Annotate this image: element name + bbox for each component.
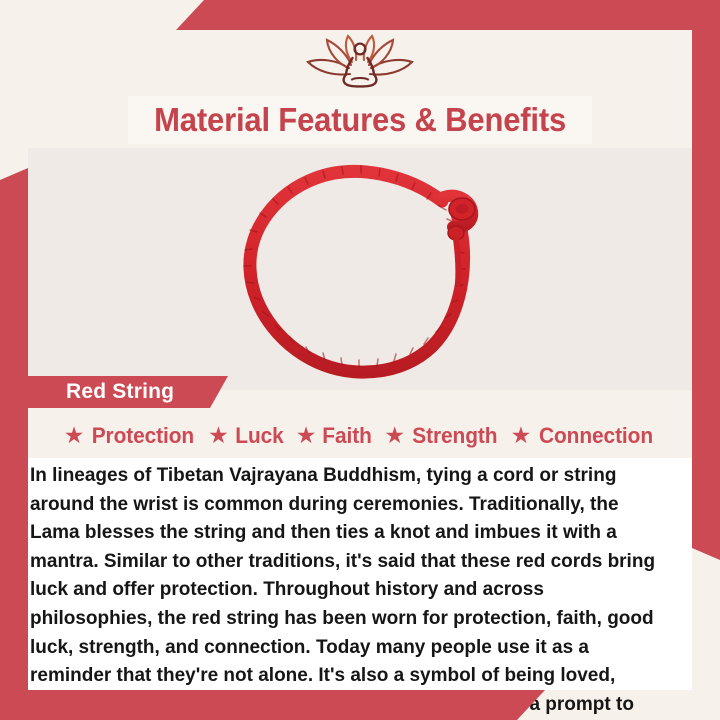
ribbon-label: Red String [66, 380, 174, 404]
benefit-item-connection: ★ Connection [511, 423, 657, 449]
frame-left-bar [0, 168, 28, 720]
benefit-label: Faith [323, 423, 372, 449]
star-icon: ★ [64, 424, 85, 447]
benefit-label: Protection [92, 423, 194, 449]
title-banner: Material Features & Benefits [128, 96, 592, 144]
description-block: In lineages of Tibetan Vajrayana Buddhis… [28, 458, 692, 690]
product-ribbon: Red String [28, 376, 228, 408]
frame-right-bar [692, 0, 720, 560]
star-icon: ★ [296, 424, 317, 447]
benefit-item-faith: ★ Faith [296, 423, 374, 449]
star-icon: ★ [511, 424, 532, 447]
product-image-area [28, 148, 692, 390]
red-braided-cord-bracelet-icon [232, 159, 488, 379]
page-title: Material Features & Benefits [154, 101, 566, 139]
star-icon: ★ [208, 424, 229, 447]
description-text: In lineages of Tibetan Vajrayana Buddhis… [30, 458, 682, 720]
benefit-item-protection: ★ Protection [64, 423, 197, 449]
benefit-item-strength: ★ Strength [384, 423, 499, 449]
benefits-row: ★ Protection ★ Luck ★ Faith ★ Strength ★… [28, 414, 692, 458]
benefit-label: Luck [235, 423, 283, 449]
benefit-label: Strength [412, 423, 497, 449]
star-icon: ★ [384, 424, 405, 447]
infographic-page: BUDDHA STONES Material Features & Benefi… [0, 0, 720, 720]
benefit-item-luck: ★ Luck [208, 423, 285, 449]
frame-top-bar [0, 0, 720, 30]
benefit-label: Connection [539, 423, 653, 449]
lotus-meditation-icon [294, 34, 426, 96]
